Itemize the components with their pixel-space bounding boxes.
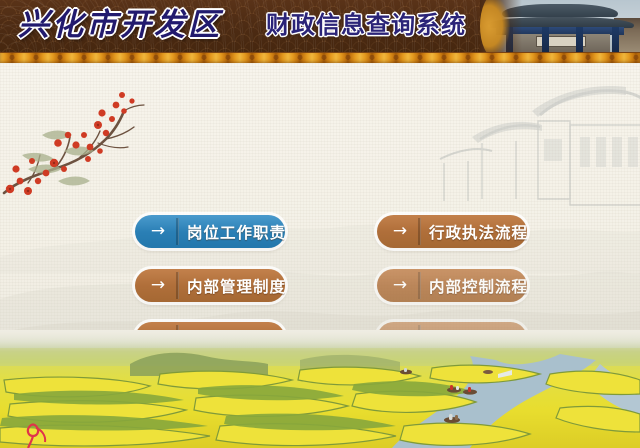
- arrow-right-icon: →: [382, 277, 418, 294]
- archway-photo: [480, 0, 640, 52]
- menu-button-internal-management[interactable]: → 内部管理制度: [135, 269, 285, 302]
- arrow-right-icon: →: [140, 277, 176, 294]
- main-content: → 岗位工作职责 → 内部管理制度 → 文明办公制度 → 业务工作流程 → 行政…: [0, 63, 640, 448]
- menu-button-label: 内部管理制度: [179, 275, 295, 297]
- plum-blossom-illustration: [2, 77, 162, 197]
- footer-landscape-photo: [0, 330, 640, 448]
- photo-top-blend: [0, 330, 640, 352]
- menu-button-internal-control[interactable]: → 内部控制流程: [377, 269, 527, 302]
- page-title: 兴化市开发区: [18, 5, 222, 45]
- arrow-right-icon: →: [382, 223, 418, 240]
- page-subtitle: 财政信息查询系统: [266, 10, 466, 42]
- arrow-right-icon: →: [140, 223, 176, 240]
- menu-button-label: 内部控制流程: [421, 275, 537, 297]
- menu-button-label: 岗位工作职责: [179, 221, 295, 243]
- app-window: 兴化市开发区 财政信息查询系统: [0, 0, 640, 448]
- menu-button-label: 行政执法流程: [421, 221, 537, 243]
- menu-button-job-duties[interactable]: → 岗位工作职责: [135, 215, 285, 248]
- menu-button-administrative-enforcement[interactable]: → 行政执法流程: [377, 215, 527, 248]
- page-header: 兴化市开发区 财政信息查询系统: [0, 0, 640, 52]
